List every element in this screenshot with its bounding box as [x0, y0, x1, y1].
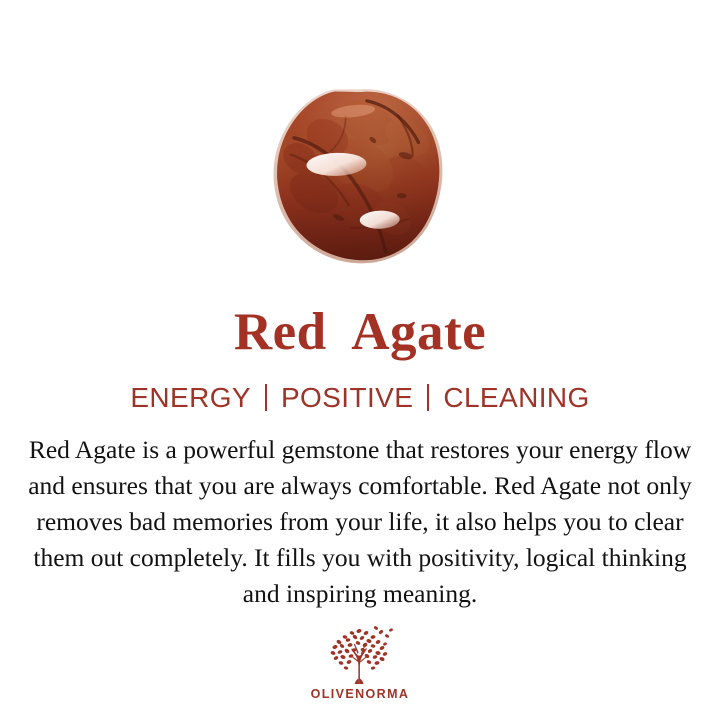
keyword-positive: POSITIVE	[281, 384, 413, 412]
brand-wordmark: OLIVENORMA	[311, 688, 410, 701]
gemstone-image-area	[0, 0, 720, 286]
keyword-cleaning: CLEANING	[443, 384, 589, 412]
tree-icon	[321, 624, 399, 686]
product-description: Red Agate is a powerful gemstone that re…	[22, 432, 698, 612]
product-info-card: Red Agate ENERGY POSITIVE CLEANING Red A…	[0, 0, 720, 720]
brand-logo: OLIVENORMA	[311, 624, 410, 701]
page-title: Red Agate	[234, 306, 486, 359]
red-agate-stone-illustration	[262, 74, 458, 270]
keyword-list: ENERGY POSITIVE CLEANING	[130, 384, 589, 412]
keyword-energy: ENERGY	[130, 384, 251, 412]
tree-canopy	[330, 626, 393, 671]
keyword-separator	[427, 384, 429, 411]
gemstone-image	[262, 74, 458, 270]
keyword-separator	[265, 384, 267, 411]
stone-body	[262, 74, 458, 270]
